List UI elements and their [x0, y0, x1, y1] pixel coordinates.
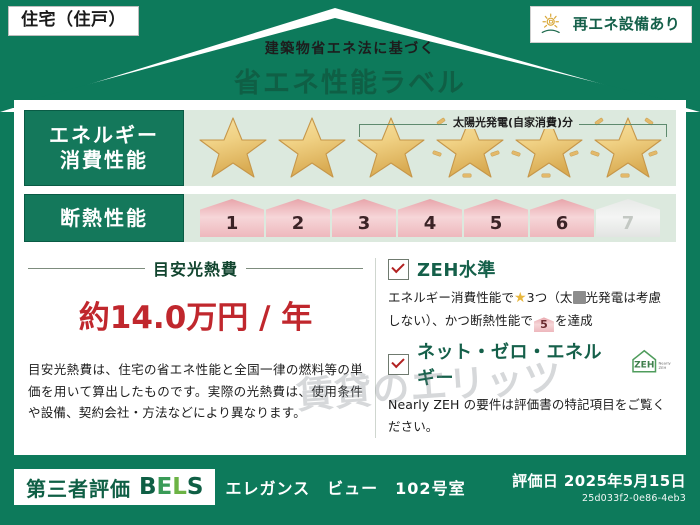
renewable-equipment-badge: 再エネ設備あり — [530, 6, 692, 43]
star-sparkle-icon — [621, 174, 629, 177]
feature-net-zero-energy: ネット・ゼロ・エネルギー ZEH Nearly ZEH Nearly ZEH の… — [388, 338, 672, 438]
feature-zeh-level-title: ZEH水準 — [417, 256, 496, 282]
label-title: 建築物省エネ法に基づく 省エネ性能ラベル — [0, 38, 700, 100]
heading-rule-right — [246, 268, 363, 269]
insulation-level-number: 7 — [622, 213, 635, 234]
insulation-level-number: 3 — [358, 213, 371, 234]
energy-performance-stars-panel: 太陽光発電(自家消費)分 — [184, 110, 676, 186]
checkbox-checked-icon[interactable] — [388, 259, 409, 280]
star-filled — [194, 112, 271, 184]
utility-cost-block: 目安光熱費 約14.0万円 / 年 目安光熱費は、住宅の省エネ性能と全国一律の燃… — [24, 254, 369, 444]
lower-section: 目安光熱費 約14.0万円 / 年 目安光熱費は、住宅の省エネ性能と全国一律の燃… — [24, 254, 676, 444]
inline-insulation-badge: 5 — [534, 317, 554, 332]
third-party-eval-label: 第三者評価 — [26, 473, 131, 502]
insulation-level-number: 4 — [424, 213, 437, 234]
house-type-chip: 住宅（住戸） — [8, 6, 139, 36]
energy-label-line2: 消費性能 — [60, 148, 148, 173]
title-main: 省エネ性能ラベル — [0, 61, 700, 100]
energy-label-line1: エネルギー — [49, 123, 159, 148]
bels-chip: 第三者評価 BELS — [14, 469, 215, 505]
energy-performance-row: エネルギー 消費性能 太陽光発電(自家消費)分 — [24, 110, 676, 186]
star-sparkle-icon — [463, 174, 471, 177]
label-card: エネルギー 消費性能 太陽光発電(自家消費)分 断熱性能 1234567 — [14, 100, 686, 455]
bels-wordmark: BELS — [139, 474, 203, 500]
zeh-text-part4: を達成 — [555, 313, 593, 328]
evaluation-id: 25d033f2-0e86-4eb3 — [512, 493, 686, 504]
zeh-text-part1: エネルギー消費性能で — [388, 290, 514, 305]
feature-net-zero-text: Nearly ZEH の要件は評価書の特記項目をご覧ください。 — [388, 394, 672, 438]
zeh-house-logo-icon: ZEH Nearly ZEH — [626, 347, 672, 381]
insulation-level-active: 6 — [530, 199, 594, 237]
feature-net-zero-head: ネット・ゼロ・エネルギー ZEH Nearly ZEH — [388, 338, 672, 390]
checkbox-checked-icon[interactable] — [388, 354, 409, 375]
label-footer: 第三者評価 BELS エレガンス ビュー 102号室 評価日 2025年5月15… — [0, 463, 700, 525]
svg-text:ZEH: ZEH — [634, 361, 654, 371]
energy-performance-label: 住宅（住戸） 再エネ設備あり 建築物省エネ法に基づく — [0, 0, 700, 525]
insulation-performance-row: 断熱性能 1234567 — [24, 194, 676, 242]
renewable-badge-label: 再エネ設備あり — [573, 17, 680, 32]
svg-text:ZEH: ZEH — [659, 366, 667, 370]
features-block: ZEH水準 エネルギー消費性能で★3つ（太光発電は考慮しない）、かつ断熱性能で5… — [386, 254, 676, 444]
insulation-level-active: 4 — [398, 199, 462, 237]
insulation-level-active: 3 — [332, 199, 396, 237]
insulation-level-number: 2 — [292, 213, 305, 234]
feature-zeh-level-head: ZEH水準 — [388, 256, 672, 282]
star-filled — [273, 112, 350, 184]
feature-zeh-level-text: エネルギー消費性能で★3つ（太光発電は考慮しない）、かつ断熱性能で5を達成 — [388, 286, 672, 332]
energy-performance-label: エネルギー 消費性能 — [24, 110, 184, 186]
insulation-label-text: 断熱性能 — [60, 206, 148, 231]
utility-cost-heading: 目安光熱費 — [28, 256, 363, 280]
utility-cost-note: 目安光熱費は、住宅の省エネ性能と全国一律の燃料等の単価を用いて算出したものです。… — [28, 359, 363, 424]
feature-net-zero-title: ネット・ゼロ・エネルギー — [417, 338, 618, 390]
insulation-levels-panel: 1234567 — [184, 194, 676, 242]
star-sparkle-icon — [542, 174, 550, 177]
insulation-level-number: 1 — [226, 213, 239, 234]
insulation-performance-label: 断熱性能 — [24, 194, 184, 242]
vertical-divider — [375, 258, 376, 438]
sun-renewable-icon — [540, 12, 566, 36]
insulation-level-inactive: 7 — [596, 199, 660, 237]
zeh-text-part2: 3つ（太 — [527, 290, 573, 305]
feature-zeh-level: ZEH水準 エネルギー消費性能で★3つ（太光発電は考慮しない）、かつ断熱性能で5… — [388, 256, 672, 332]
insulation-level-number: 5 — [490, 213, 503, 234]
heading-rule-left — [28, 268, 145, 269]
insulation-level-active: 1 — [200, 199, 264, 237]
redacted-block-icon — [573, 291, 586, 304]
insulation-level-active: 2 — [266, 199, 330, 237]
insulation-level-number: 6 — [556, 213, 569, 234]
inline-star-icon: ★ — [514, 290, 527, 306]
evaluation-info: 評価日 2025年5月15日 25d033f2-0e86-4eb3 — [512, 470, 686, 504]
evaluation-date: 評価日 2025年5月15日 — [512, 470, 686, 491]
svg-text:Nearly: Nearly — [659, 362, 672, 366]
utility-cost-value: 約14.0万円 / 年 — [28, 292, 363, 337]
solar-bracket-caption: 太陽光発電(自家消費)分 — [359, 111, 667, 130]
insulation-level-active: 5 — [464, 199, 528, 237]
utility-cost-heading-text: 目安光熱費 — [153, 256, 238, 280]
property-name: エレガンス ビュー 102号室 — [225, 475, 465, 499]
